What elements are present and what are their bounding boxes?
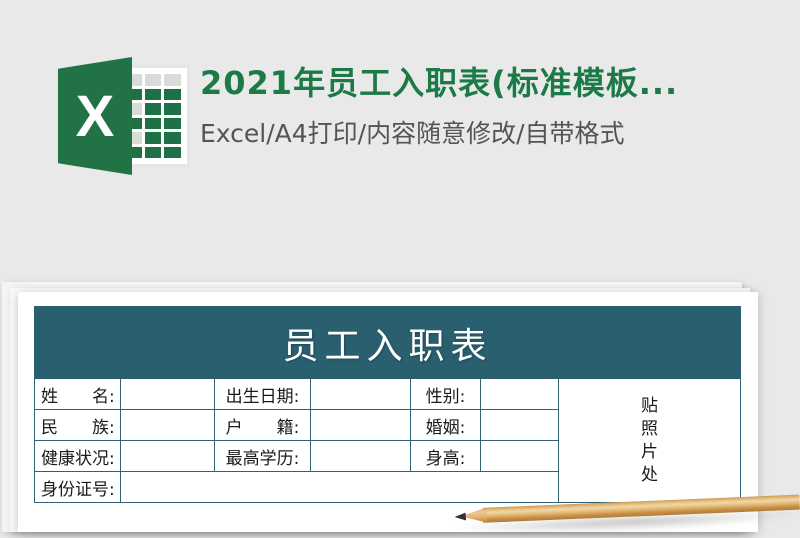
field-value-marital-status[interactable] — [481, 410, 559, 441]
employee-onboarding-form: 员工入职表 姓 名: 出生日期: 性别: 贴 照 片 — [34, 306, 741, 503]
photo-placeholder-text: 贴 照 片 处 — [565, 395, 734, 487]
excel-icon-grid — [125, 74, 181, 158]
field-label-marital-status: 婚姻: — [411, 410, 481, 441]
photo-placeholder-cell[interactable]: 贴 照 片 处 — [559, 379, 741, 503]
photo-char-1: 贴 — [565, 395, 734, 418]
form-title: 员工入职表 — [282, 326, 492, 367]
field-label-name: 姓 名: — [35, 379, 121, 410]
field-label-id-number: 身份证号: — [35, 472, 121, 503]
field-label-health: 健康状况: — [35, 441, 121, 472]
field-label-residence: 户 籍: — [215, 410, 311, 441]
photo-char-2: 照 — [565, 418, 734, 441]
field-label-gender: 性别: — [411, 379, 481, 410]
field-value-height[interactable] — [481, 441, 559, 472]
banner: X 2021年员工入职表(标准模板... Excel/A4打印/内容随意修改/自… — [0, 0, 800, 250]
pencil-tip — [455, 513, 466, 521]
excel-icon: X — [58, 57, 198, 175]
photo-char-3: 片 — [565, 441, 734, 464]
form-title-row: 员工入职表 — [35, 307, 741, 379]
field-label-ethnicity: 民 族: — [35, 410, 121, 441]
field-label-height: 身高: — [411, 441, 481, 472]
field-value-ethnicity[interactable] — [121, 410, 215, 441]
excel-icon-letter: X — [58, 57, 132, 175]
paper-sheet-front: 员工入职表 姓 名: 出生日期: 性别: 贴 照 片 — [18, 292, 758, 532]
photo-char-4: 处 — [565, 464, 734, 487]
field-value-health[interactable] — [121, 441, 215, 472]
field-label-education: 最高学历: — [215, 441, 311, 472]
field-label-birthdate: 出生日期: — [215, 379, 311, 410]
form-title-cell: 员工入职表 — [35, 307, 741, 379]
field-value-education[interactable] — [311, 441, 411, 472]
field-value-residence[interactable] — [311, 410, 411, 441]
page-title: 2021年员工入职表(标准模板... — [200, 62, 800, 104]
page-subtitle: Excel/A4打印/内容随意修改/自带格式 — [200, 118, 800, 150]
table-row: 姓 名: 出生日期: 性别: 贴 照 片 处 — [35, 379, 741, 410]
field-value-name[interactable] — [121, 379, 215, 410]
field-value-id-number[interactable] — [121, 472, 559, 503]
pencil-cone — [463, 508, 488, 524]
field-value-gender[interactable] — [481, 379, 559, 410]
document-preview: 员工入职表 姓 名: 出生日期: 性别: 贴 照 片 — [0, 250, 800, 526]
banner-text-block: 2021年员工入职表(标准模板... Excel/A4打印/内容随意修改/自带格… — [200, 62, 800, 150]
field-value-birthdate[interactable] — [311, 379, 411, 410]
